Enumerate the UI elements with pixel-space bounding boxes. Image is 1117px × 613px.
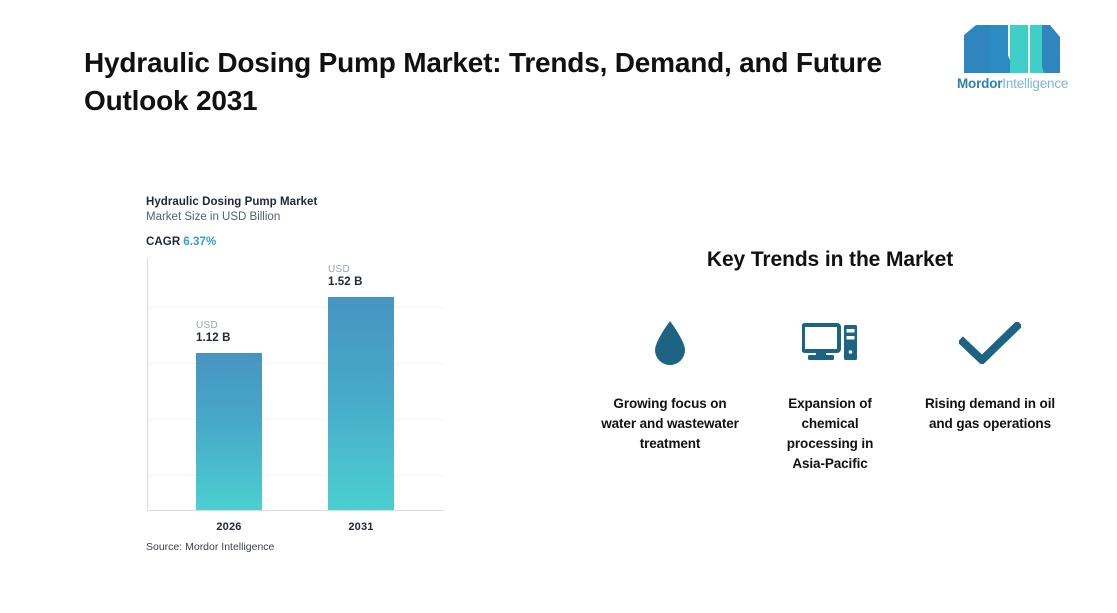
cagr-label: CAGR — [146, 236, 180, 248]
page-title: Hydraulic Dosing Pump Market: Trends, De… — [84, 44, 934, 119]
bar-label-2031: USD 1.52 B — [328, 264, 362, 289]
bar-unit-2031: USD — [328, 264, 362, 276]
gridline-1-6 — [148, 307, 444, 308]
checkmark-icon — [959, 317, 1021, 369]
gridline-0-4 — [148, 475, 444, 476]
bar-value-2031: 1.52 B — [328, 276, 362, 290]
x-tick-2031: 2031 — [328, 521, 394, 533]
chart-cagr: CAGR6.37% — [146, 236, 446, 248]
bar-2031 — [328, 297, 394, 510]
logo-brand-primary: Mordor — [957, 76, 1002, 91]
trend-caption-water: Growing focus on water and wastewater tr… — [600, 394, 740, 454]
desktop-computer-icon — [802, 317, 858, 369]
bar-2026 — [196, 353, 262, 510]
bar-value-2026: 1.12 B — [196, 332, 230, 346]
trend-caption-oil: Rising demand in oil and gas operations — [922, 394, 1058, 434]
logo-brand-secondary: Intelligence — [1002, 76, 1068, 91]
trend-item-water: Growing focus on water and wastewater tr… — [590, 317, 750, 454]
chart-title: Hydraulic Dosing Pump Market — [146, 196, 446, 208]
x-tick-2026: 2026 — [196, 521, 262, 533]
bar-label-2026: USD 1.12 B — [196, 320, 230, 345]
y-axis-line — [147, 258, 148, 511]
logo-wordmark: MordorIntelligence — [957, 77, 1067, 91]
trends-row: Growing focus on water and wastewater tr… — [580, 317, 1080, 473]
water-droplet-icon — [653, 317, 687, 369]
gridline-1-2 — [148, 363, 444, 364]
bar-unit-2026: USD — [196, 320, 230, 332]
x-axis-line — [147, 510, 444, 511]
trend-item-oil: Rising demand in oil and gas operations — [910, 317, 1070, 434]
mordor-intelligence-logo: MordorIntelligence — [957, 25, 1067, 97]
trend-caption-chemical: Expansion of chemical processing in Asia… — [774, 394, 886, 473]
key-trends-panel: Key Trends in the Market Growing focus o… — [580, 248, 1080, 473]
cagr-value: 6.37% — [183, 236, 216, 248]
mordor-m-mark-icon — [964, 25, 1060, 73]
chart-source: Source: Mordor Intelligence — [146, 541, 274, 553]
chart-plot-area: USD 1.12 B USD 1.52 B — [146, 258, 444, 511]
trends-heading: Key Trends in the Market — [580, 248, 1080, 272]
market-size-chart: Hydraulic Dosing Pump Market Market Size… — [146, 196, 446, 556]
gridline-0-8 — [148, 419, 444, 420]
trend-item-chemical: Expansion of chemical processing in Asia… — [750, 317, 910, 473]
chart-subtitle: Market Size in USD Billion — [146, 211, 446, 223]
